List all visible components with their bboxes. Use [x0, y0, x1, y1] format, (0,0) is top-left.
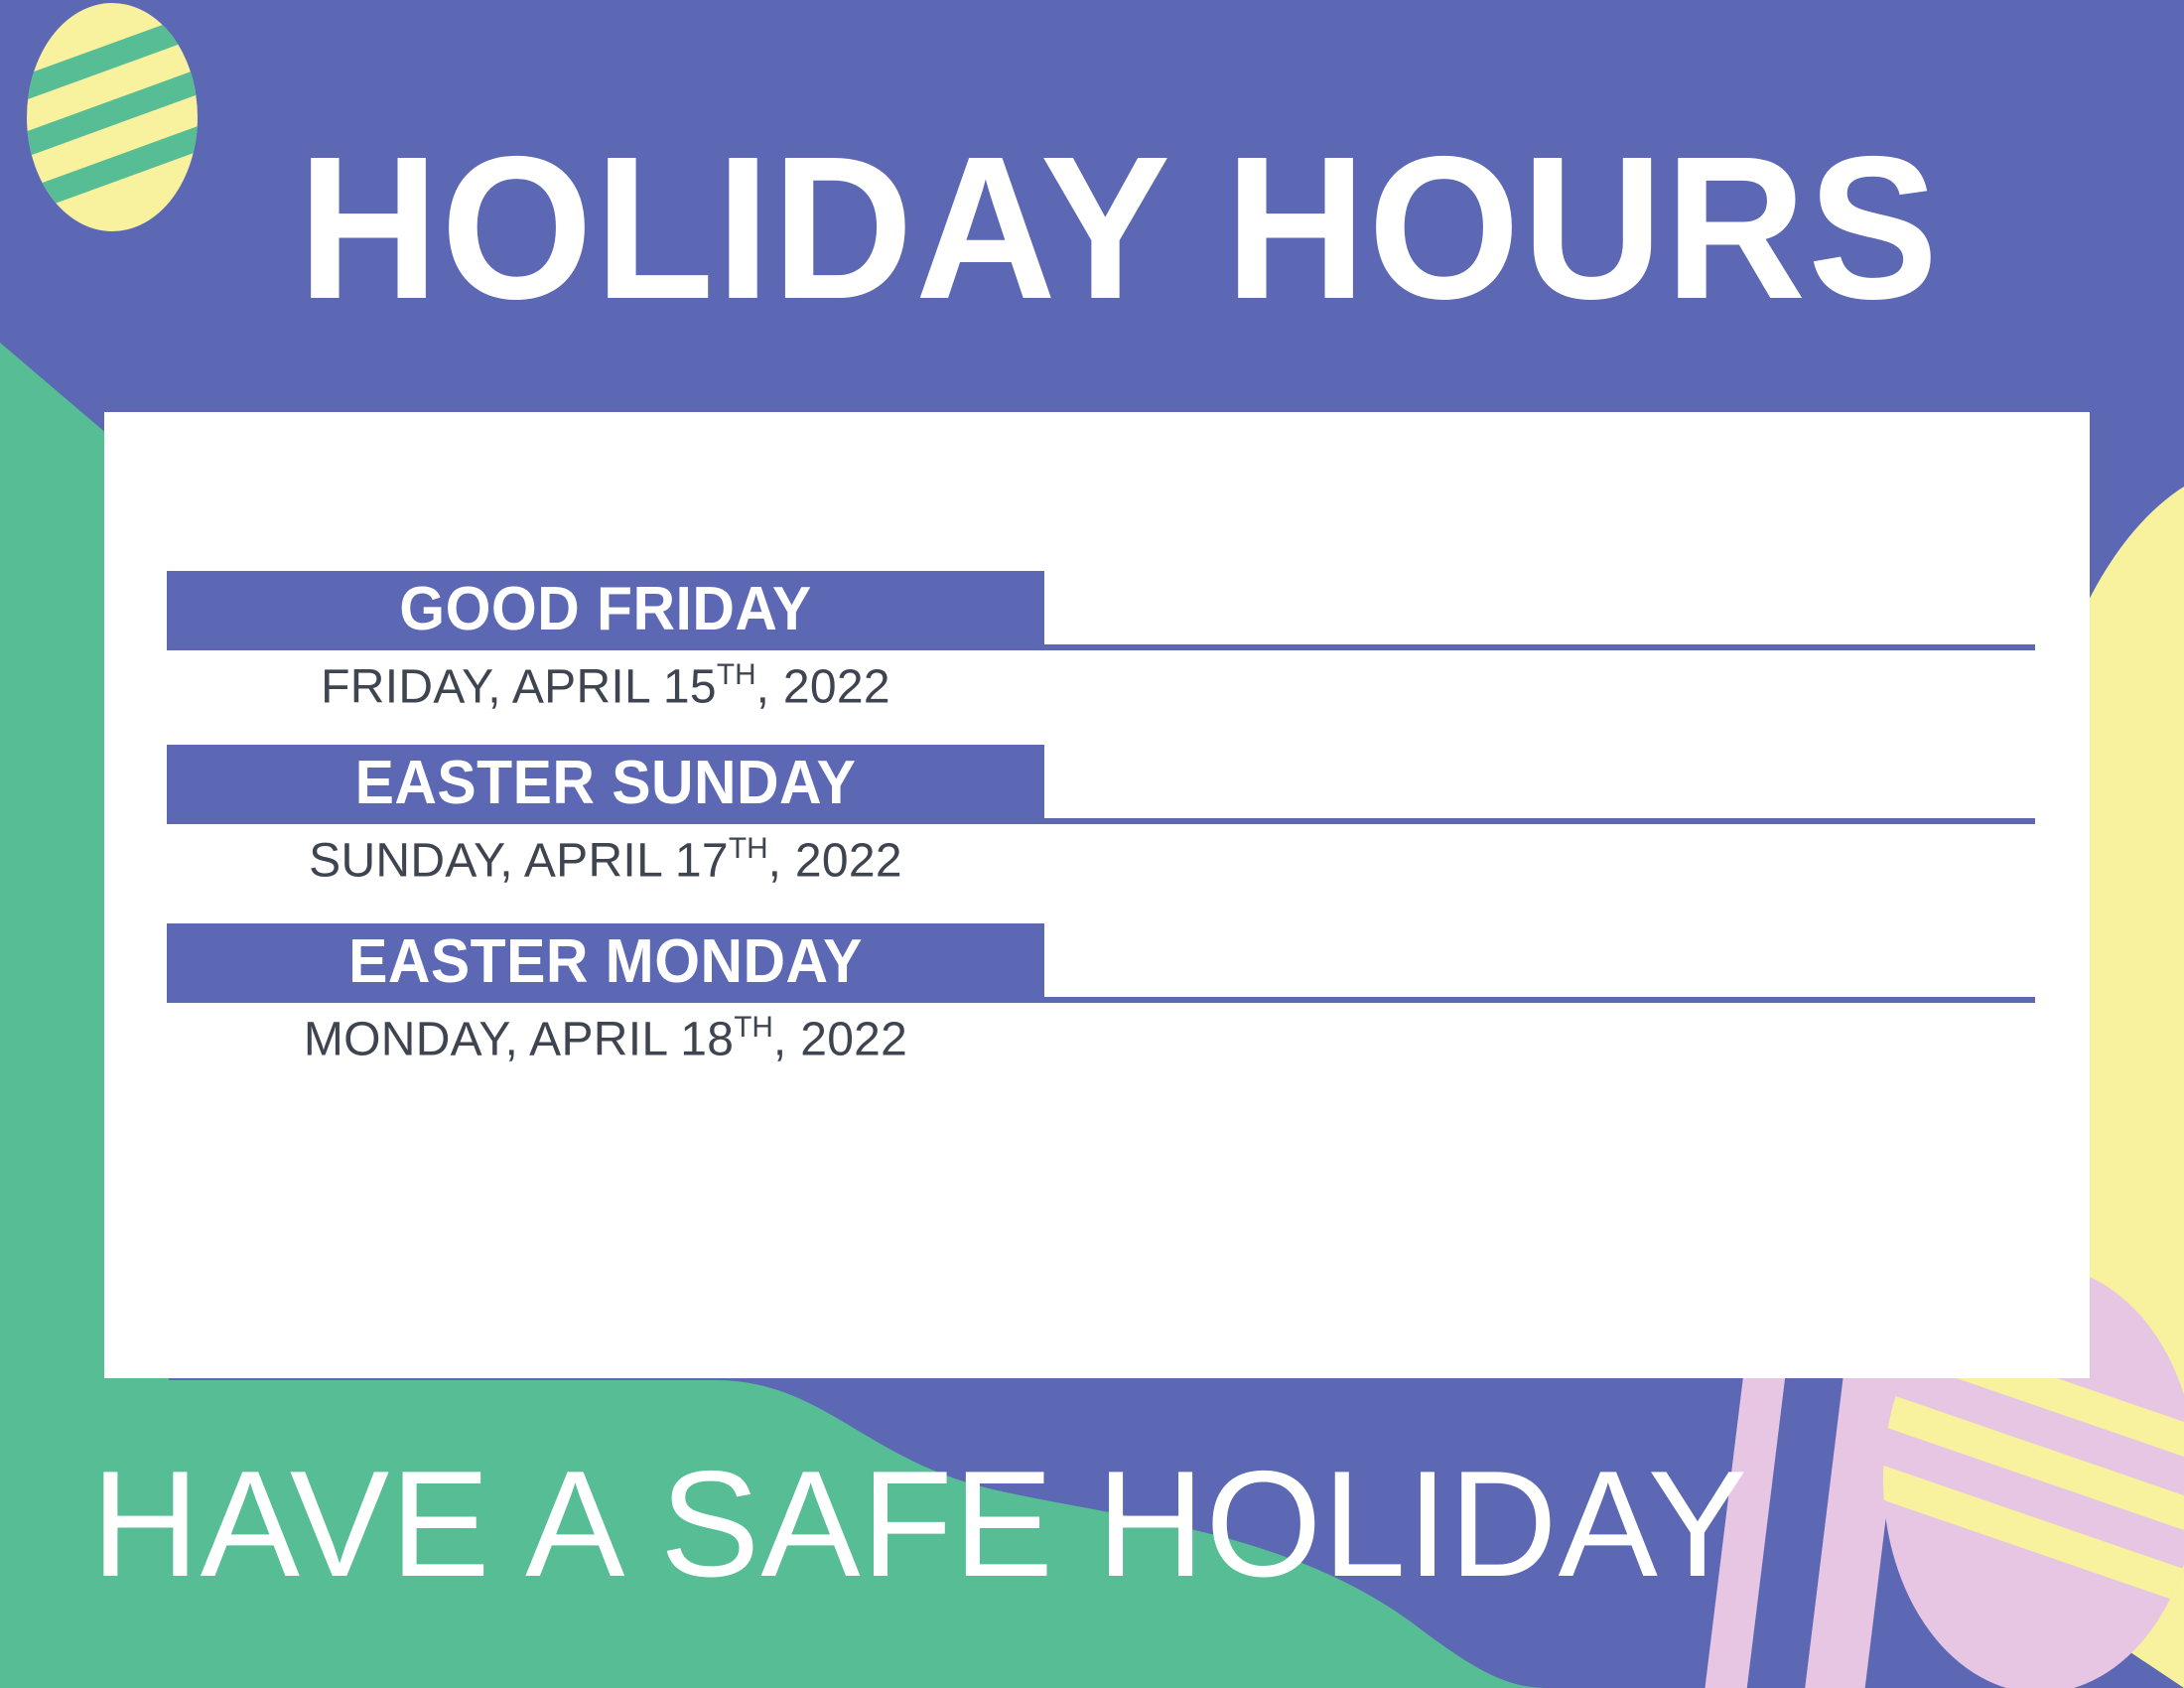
holiday-date-suffix: , 2022: [768, 834, 902, 887]
holiday-date: MONDAY, APRIL 18TH, 2022: [167, 1011, 1044, 1066]
holiday-date-prefix: MONDAY, APRIL 18: [304, 1013, 734, 1065]
holiday-date-prefix: FRIDAY, APRIL 15: [321, 660, 717, 713]
hours-card: GOOD FRIDAY FRIDAY, APRIL 15TH, 2022 EAS…: [104, 412, 2090, 1378]
holiday-date-suffix: , 2022: [756, 660, 890, 713]
holiday-name-bar: GOOD FRIDAY: [167, 571, 1044, 650]
holiday-date: SUNDAY, APRIL 17TH, 2022: [167, 832, 1044, 888]
holiday-name: GOOD FRIDAY: [189, 571, 1023, 650]
holiday-name-bar: EASTER MONDAY: [167, 923, 1044, 1003]
holiday-date-prefix: SUNDAY, APRIL 17: [309, 834, 729, 887]
holiday-date: FRIDAY, APRIL 15TH, 2022: [167, 658, 1044, 714]
holiday-date-suffix: , 2022: [773, 1013, 907, 1065]
holiday-hours-poster: HOLIDAY HOURS GOOD FRIDAY FRIDAY, APRIL …: [0, 0, 2184, 1688]
holiday-date-ordinal: TH: [734, 1011, 773, 1044]
page-title: HOLIDAY HOURS: [298, 129, 1918, 328]
holiday-date-ordinal: TH: [729, 832, 768, 865]
holiday-name: EASTER MONDAY: [189, 923, 1023, 1003]
holiday-name-bar: EASTER SUNDAY: [167, 745, 1044, 824]
holiday-date-ordinal: TH: [717, 658, 756, 691]
holiday-name: EASTER SUNDAY: [189, 745, 1023, 824]
footer-message: HAVE A SAFE HOLIDAY: [91, 1430, 1664, 1618]
